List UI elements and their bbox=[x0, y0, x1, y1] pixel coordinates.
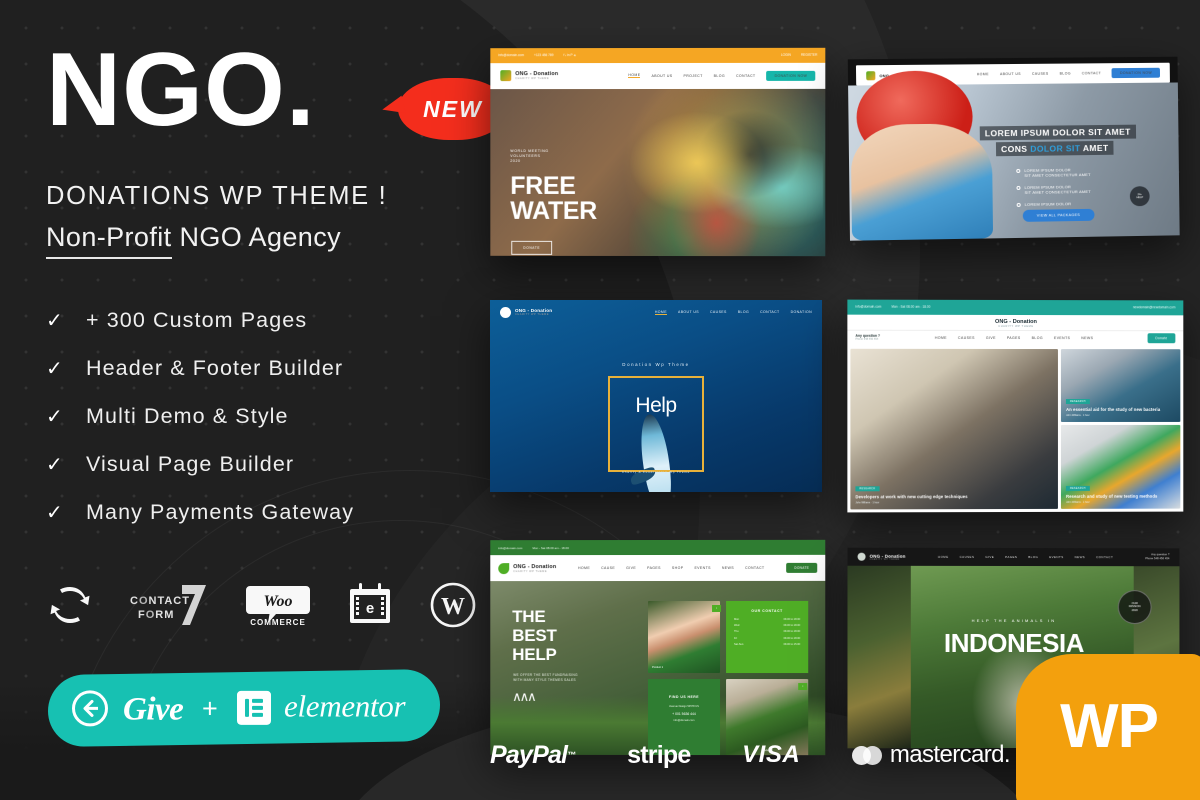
menu-item[interactable]: Pages bbox=[1007, 336, 1021, 340]
hours-value: 09.00 to 18.00 bbox=[784, 637, 801, 640]
demo-preview-research-blog[interactable]: info@domain.com Mon - Sat 08.00 am - 18.… bbox=[847, 300, 1183, 513]
site-menu[interactable]: Home Cause Give Pages Shop Events News C… bbox=[578, 566, 765, 570]
menu-item[interactable]: Pages bbox=[647, 566, 661, 570]
menu-item[interactable]: News bbox=[722, 566, 734, 570]
menu-item[interactable]: Give bbox=[985, 555, 994, 559]
menu-item[interactable]: BLOG bbox=[738, 310, 749, 314]
post-title: Research and study of new testing method… bbox=[1066, 494, 1175, 500]
donate-button[interactable]: DONATE bbox=[786, 563, 817, 573]
hero-seal-badge: 24+ HELP bbox=[1130, 186, 1150, 206]
menu-item[interactable]: Blog bbox=[1032, 336, 1043, 340]
feature-label: Header & Footer Builder bbox=[86, 356, 343, 381]
list-item: LOREM IPSUM DOLOR SIT AMET CONSECTETUR A… bbox=[1016, 184, 1090, 196]
site-logo[interactable]: ONG - Donation CHARITY WP THEME bbox=[498, 563, 556, 574]
elementor-label: elementor bbox=[284, 688, 405, 724]
headline-underlined: Non-Profit bbox=[46, 222, 172, 259]
list-item: ✓Many Payments Gateway bbox=[46, 500, 480, 525]
hero-eyebrow: WORLD MEETING VOLUNTEERS 2020 bbox=[510, 149, 548, 164]
hero-title: THE BEST HELP bbox=[512, 607, 556, 664]
brand-name: NGO bbox=[46, 32, 286, 148]
demo-preview-help-ocean[interactable]: ONG - Donation CHARITY WP THEME HOME ABO… bbox=[490, 300, 822, 492]
give-label: Give bbox=[123, 691, 183, 728]
post-meta: John Williams · 1 hour bbox=[1066, 501, 1175, 504]
find-us-phone: + 001 5636 444 bbox=[655, 712, 713, 716]
feature-label: Many Payments Gateway bbox=[86, 500, 354, 525]
hero-title-line1: FREE bbox=[510, 172, 575, 200]
phone-block: Any question ? Phone 548 456 454 bbox=[1145, 554, 1169, 561]
login-link[interactable]: LOGIN bbox=[781, 53, 791, 57]
feature-label: Multi Demo & Style bbox=[86, 404, 289, 429]
headline-line-1: DONATIONS WP THEME ! bbox=[46, 182, 480, 211]
site-logo[interactable]: ONG - Donation CHARITY WP THEME bbox=[858, 553, 906, 561]
hero-title: Help bbox=[635, 394, 676, 418]
bullet-icon bbox=[1017, 203, 1021, 207]
site-menu[interactable]: Home Causes Give Pages Blog Events News … bbox=[938, 555, 1113, 559]
woocommerce-icon: Woo COMMERCE bbox=[246, 582, 310, 628]
wordpress-icon: W bbox=[430, 582, 476, 628]
phone-number: Phone 548 456 454 bbox=[1145, 557, 1169, 561]
menu-item[interactable]: CONTACT bbox=[736, 73, 756, 77]
headline-rest: NGO Agency bbox=[172, 222, 341, 252]
logo-mark bbox=[498, 563, 509, 574]
menu-item[interactable]: Give bbox=[986, 336, 996, 340]
find-us-address: Avenue Design 54578 US bbox=[655, 705, 713, 709]
check-icon: ✓ bbox=[46, 308, 72, 333]
logo-mark bbox=[500, 307, 511, 318]
menu-item[interactable]: ABOUT US bbox=[1000, 72, 1021, 76]
post-card[interactable]: RESEARCH Research and study of new testi… bbox=[1061, 425, 1180, 509]
post-card[interactable]: RESEARCH An essential aid for the study … bbox=[1061, 349, 1180, 422]
paypal-logo: PayPal™ bbox=[490, 741, 575, 770]
bullet-icon bbox=[1016, 186, 1020, 190]
bullet-text: LOREM IPSUM DOLOR bbox=[1025, 201, 1072, 207]
zigzag-divider-icon: ∧∧∧ bbox=[512, 689, 534, 705]
topbar-email: info@domain.com bbox=[855, 305, 881, 309]
payment-logo-row: PayPal™ stripe VISA mastercard. bbox=[490, 738, 1010, 772]
hours-value: 09.00 to 18.00 bbox=[784, 624, 801, 627]
menu-item[interactable]: HOME bbox=[628, 73, 640, 78]
day-label: Fri bbox=[734, 637, 737, 640]
demo-preview-best-help[interactable]: info@domain.com Mon - Sat 08.00 am - 18.… bbox=[490, 540, 825, 755]
hours-value: 09.00 to 18.00 bbox=[784, 630, 801, 633]
menu-item[interactable]: CONTACT bbox=[760, 310, 779, 314]
check-icon: ✓ bbox=[46, 452, 72, 477]
hero-title-line1: THE bbox=[512, 607, 545, 626]
mastercard-logo: mastercard. bbox=[852, 741, 1010, 769]
logo-mark bbox=[500, 70, 511, 81]
topbar-hours: Mon - Sat 08.00 am - 18.00 bbox=[532, 546, 568, 550]
paypal-label: PayPal bbox=[490, 741, 567, 770]
hero-title: FREEWATER bbox=[510, 174, 597, 224]
stripe-logo: stripe bbox=[627, 741, 690, 770]
view-packages-button[interactable]: VIEW ALL PACKAGES bbox=[1023, 209, 1094, 222]
hero-section: WORLD MEETING VOLUNTEERS 2020 FREEWATER … bbox=[490, 88, 825, 256]
menu-item[interactable]: Pages bbox=[1005, 555, 1017, 559]
logo-mark bbox=[866, 71, 875, 80]
menu-item[interactable]: News bbox=[1081, 336, 1093, 340]
hero-title-line2: CONS DOLOR SIT AMET bbox=[996, 141, 1114, 156]
list-item: ✓Header & Footer Builder bbox=[46, 356, 480, 381]
check-icon: ✓ bbox=[46, 356, 72, 381]
hero-title-line2: WATER bbox=[510, 196, 597, 224]
post-grid: RESEARCH Developers at work with new cut… bbox=[847, 346, 1183, 513]
day-label: Mon bbox=[734, 618, 739, 621]
mission-seal-badge: OUR MISSION 2020 bbox=[1118, 590, 1152, 624]
logo-title: ONG - Donation bbox=[513, 564, 556, 570]
refresh-arrows-icon bbox=[46, 582, 94, 628]
menu-item[interactable]: Contact bbox=[1096, 555, 1113, 559]
table-row: Fri09.00 to 18.00 bbox=[734, 637, 800, 640]
menu-item[interactable]: DONATION bbox=[791, 310, 812, 314]
topbar-alt-email: newdomain@newdomain.com bbox=[1133, 306, 1175, 310]
plugin-logo-row: CONTACT FORM Woo COMMERCE bbox=[46, 575, 480, 635]
bullet-text: LOREM IPSUM DOLOR SIT AMET CONSECTETUR A… bbox=[1024, 184, 1090, 196]
list-item: ✓Visual Page Builder bbox=[46, 452, 480, 477]
logo-subtitle: CHARITY WP THEME bbox=[515, 313, 552, 316]
site-menu[interactable]: HOME ABOUT US PROJECT BLOG CONTACT DONAT… bbox=[628, 70, 815, 80]
site-menu[interactable]: HOME ABOUT US CAUSES BLOG CONTACT DONATI… bbox=[977, 68, 1160, 80]
photo-badge: i bbox=[712, 605, 721, 612]
list-item: ✓Multi Demo & Style bbox=[46, 404, 480, 429]
menu-item[interactable]: CAUSES bbox=[1032, 72, 1049, 76]
hero-donate-button[interactable]: DONATE bbox=[511, 240, 552, 254]
contact-card: OUR CONTACT Mon09.00 to 18.00 Wed09.00 t… bbox=[726, 601, 808, 673]
find-us-title: FIND US HERE bbox=[655, 695, 713, 699]
list-item: LOREM IPSUM DOLOR bbox=[1017, 201, 1091, 207]
logo-subtitle: CHARITY WP THEME bbox=[870, 558, 906, 560]
paypal-tm: ™ bbox=[567, 750, 575, 760]
mastercard-label: mastercard. bbox=[890, 741, 1010, 769]
status-badge: RESEARCH bbox=[1066, 399, 1090, 405]
logo-title: ONG - Donation bbox=[870, 553, 906, 558]
give-icon bbox=[70, 688, 110, 733]
register-link[interactable]: REGISTER bbox=[801, 53, 817, 57]
site-menu[interactable]: Home Causes Give Pages Blog Events News bbox=[935, 336, 1094, 340]
social-icons: f 𝅘𝅥 in P ⚹ bbox=[563, 53, 576, 57]
hero-title-line2: BEST bbox=[512, 626, 556, 645]
donate-button[interactable]: DONATION NOW bbox=[767, 70, 816, 80]
topbar-hours: Mon - Sat 08.00 am - 18.00 bbox=[891, 305, 930, 309]
logo-subtitle: CHARITY WP THEME bbox=[513, 570, 556, 573]
hours-value: 09.00 to 18.00 bbox=[784, 618, 801, 621]
day-label: Sat-Sun bbox=[734, 643, 743, 646]
svg-text:e: e bbox=[366, 600, 374, 617]
menu-item[interactable]: ABOUT US bbox=[651, 74, 672, 78]
donate-button[interactable]: DONATION NOW bbox=[1112, 68, 1160, 78]
hero-bullet-list: LOREM IPSUM DOLOR SIT AMET CONSECTETUR A… bbox=[1016, 167, 1091, 213]
logo-subtitle: CHARITY WP THEME bbox=[515, 77, 558, 80]
table-row: Thu09.00 to 18.00 bbox=[734, 630, 800, 633]
topbar-email: info@domain.com bbox=[498, 546, 522, 550]
hero-subtitle: WE OFFER THE BEST FUNDRAISING WITH MANY … bbox=[513, 673, 578, 682]
menu-item[interactable]: Shop bbox=[672, 566, 684, 570]
headline-line-2: Non-Profit NGO Agency bbox=[46, 222, 480, 253]
give-elementor-badge: Give + elementor bbox=[48, 669, 440, 747]
menu-item[interactable]: PROJECT bbox=[684, 74, 703, 78]
site-logo[interactable]: ONG - Donation CHARITY WP THEME bbox=[847, 314, 1183, 330]
hero-eyebrow: Donation Wp Theme bbox=[490, 362, 822, 367]
check-icon: ✓ bbox=[46, 404, 72, 429]
svg-text:W: W bbox=[441, 594, 465, 620]
feature-label: + 300 Custom Pages bbox=[86, 308, 307, 333]
hero-gold-frame bbox=[608, 376, 704, 472]
child-photo bbox=[851, 123, 993, 240]
menu-item[interactable]: Give bbox=[626, 566, 636, 570]
hero-title-line1: LOREM IPSUM DOLOR SIT AMET bbox=[980, 125, 1136, 141]
menu-item[interactable]: CAUSES bbox=[710, 310, 727, 314]
bullet-icon bbox=[1016, 169, 1020, 173]
question-phone: Phone 548 456 454 bbox=[855, 338, 880, 341]
donate-button[interactable]: Donate bbox=[1147, 333, 1175, 343]
menu-item[interactable]: ABOUT US bbox=[678, 310, 699, 314]
bullet-text: LOREM IPSUM DOLOR SIT AMET CONSECTETUR A… bbox=[1024, 167, 1090, 179]
hl-mid: DOLOR SIT bbox=[1030, 143, 1080, 154]
post-title: An essential aid for the study of new ba… bbox=[1066, 407, 1175, 412]
topbar-phone: +123 456 789 bbox=[534, 53, 554, 57]
svg-text:Woo: Woo bbox=[263, 593, 292, 610]
menu-item[interactable]: Contact bbox=[745, 566, 765, 570]
visa-logo: VISA bbox=[742, 741, 800, 769]
menu-item[interactable]: Home bbox=[578, 566, 590, 570]
site-menu[interactable]: HOME ABOUT US CAUSES BLOG CONTACT DONATI… bbox=[655, 310, 812, 315]
day-label: Thu bbox=[734, 630, 738, 633]
menu-item[interactable]: News bbox=[1075, 555, 1086, 559]
status-badge: RESEARCH bbox=[855, 486, 879, 492]
hero-subtitle: Charity & Fundraising Wp Theme bbox=[490, 470, 822, 474]
post-title: Developers at work with new cutting edge… bbox=[855, 494, 1053, 500]
menu-item[interactable]: Cause bbox=[601, 566, 615, 570]
svg-text:FORM: FORM bbox=[138, 609, 174, 621]
demo-preview-free-water[interactable]: info@domain.com +123 456 789 f 𝅘𝅥 in P ⚹ … bbox=[490, 48, 825, 256]
logo-mark bbox=[858, 553, 866, 561]
find-us-email: info@domain.com bbox=[655, 719, 713, 723]
feature-label: Visual Page Builder bbox=[86, 452, 294, 477]
menu-item[interactable]: BLOG bbox=[1060, 72, 1071, 76]
hours-value: 09.00 to 15.00 bbox=[784, 643, 801, 646]
list-item: ✓+ 300 Custom Pages bbox=[46, 308, 480, 333]
contact-card-title: OUR CONTACT bbox=[734, 609, 800, 613]
menu-item[interactable]: Home bbox=[935, 336, 947, 340]
photo-badge: i bbox=[798, 683, 807, 690]
site-logo[interactable]: ONG - Donation CHARITY WP THEME bbox=[500, 70, 558, 81]
menu-item[interactable]: Home bbox=[938, 555, 949, 559]
wp-badge-label: WP bbox=[1060, 691, 1158, 762]
menu-item[interactable]: HOME bbox=[977, 72, 989, 76]
status-badge: RESEARCH bbox=[1066, 486, 1090, 492]
elementor-icon bbox=[237, 691, 271, 725]
check-icon: ✓ bbox=[46, 500, 72, 525]
svg-text:COMMERCE: COMMERCE bbox=[250, 618, 306, 627]
post-meta: John Williams · 1 hour bbox=[855, 501, 1053, 504]
hero-section: LOREM IPSUM DOLOR SIT AMET CONS DOLOR SI… bbox=[848, 82, 1180, 240]
menu-item[interactable]: Causes bbox=[960, 555, 975, 559]
logo-subtitle: CHARITY WP THEME bbox=[847, 325, 1183, 329]
brand-dot: . bbox=[286, 32, 316, 148]
events-calendar-icon: e bbox=[346, 581, 394, 629]
menu-item[interactable]: Events bbox=[694, 566, 710, 570]
plus-sign: + bbox=[202, 693, 218, 724]
team-photo: Product 1 bbox=[648, 601, 720, 673]
hero-section: Donation Wp Theme Help Charity & Fundrai… bbox=[490, 324, 822, 492]
svg-text:CONTACT: CONTACT bbox=[130, 595, 190, 607]
site-logo[interactable]: ONG - Donation CHARITY WP THEME bbox=[500, 307, 552, 318]
list-item: LOREM IPSUM DOLOR SIT AMET CONSECTETUR A… bbox=[1016, 167, 1090, 179]
table-row: Wed09.00 to 18.00 bbox=[734, 624, 800, 627]
hero-title-line3: HELP bbox=[512, 645, 556, 664]
demo-preview-medical[interactable]: ONG - Donation HOME ABOUT US CAUSES BLOG… bbox=[848, 57, 1180, 241]
table-row: Mon09.00 to 18.00 bbox=[734, 618, 800, 621]
feature-list: ✓+ 300 Custom Pages ✓Header & Footer Bui… bbox=[46, 308, 480, 525]
menu-item[interactable]: BLOG bbox=[714, 73, 725, 77]
contact-form-7-icon: CONTACT FORM bbox=[130, 582, 210, 628]
hero-photo bbox=[629, 98, 824, 256]
menu-item[interactable]: Blog bbox=[1028, 555, 1038, 559]
table-row: Sat-Sun09.00 to 15.00 bbox=[734, 643, 800, 646]
menu-item[interactable]: HOME bbox=[655, 310, 667, 315]
menu-item[interactable]: CONTACT bbox=[1082, 71, 1101, 75]
brand-row: NGO. NEW bbox=[46, 40, 480, 160]
menu-item[interactable]: Events bbox=[1049, 555, 1063, 559]
hero-section: THE BEST HELP WE OFFER THE BEST FUNDRAIS… bbox=[490, 581, 825, 755]
post-card-large[interactable]: RESEARCH Developers at work with new cut… bbox=[850, 349, 1058, 510]
menu-item[interactable]: Events bbox=[1054, 336, 1070, 340]
wp-corner-badge: WP bbox=[1016, 654, 1200, 800]
topbar-email: info@domain.com bbox=[498, 53, 524, 57]
hl-pre: CONS bbox=[1001, 144, 1030, 154]
hl-post: AMET bbox=[1080, 143, 1108, 153]
photo-label: Product 1 bbox=[652, 666, 663, 669]
post-meta: John Williams · 1 hour bbox=[1066, 414, 1175, 417]
question-block: Any question ? Phone 548 456 454 bbox=[855, 334, 880, 341]
mastercard-circles-icon bbox=[852, 746, 882, 765]
day-label: Wed bbox=[734, 624, 739, 627]
menu-item[interactable]: Causes bbox=[958, 336, 975, 340]
